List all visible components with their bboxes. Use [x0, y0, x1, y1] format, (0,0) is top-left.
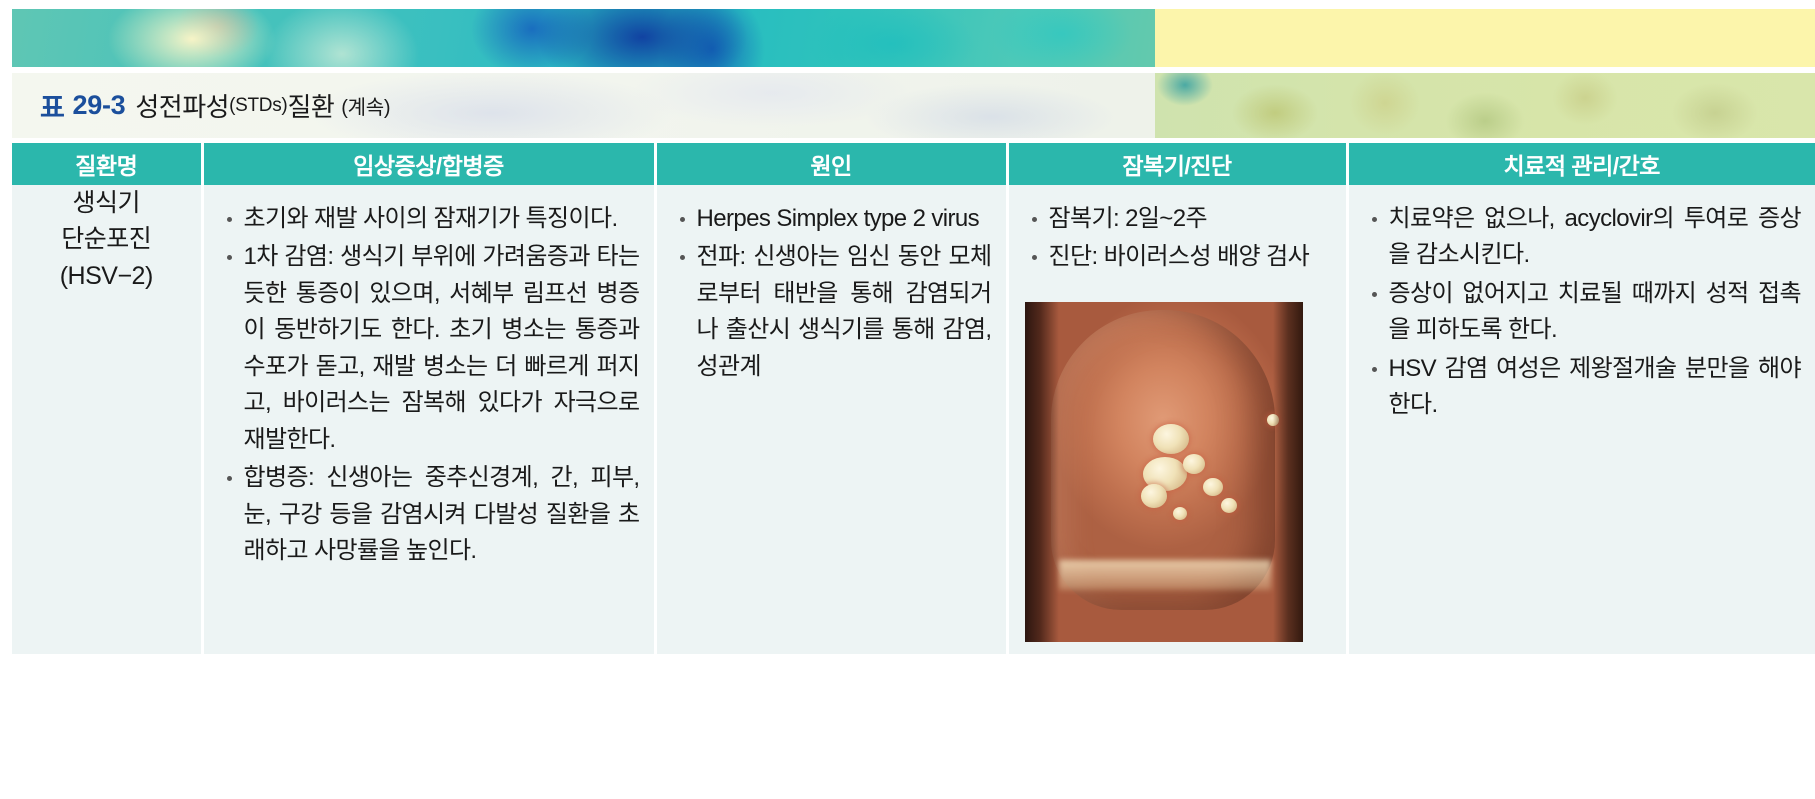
- decorative-top-band: [12, 9, 1815, 67]
- lesion-spot: [1141, 484, 1167, 508]
- list-item: Herpes Simplex type 2 virus: [673, 201, 992, 237]
- lesion-spot: [1221, 498, 1237, 513]
- table-title-main: 성전파성: [135, 87, 229, 124]
- cell-disease-name: 생식기 단순포진 (HSV−2): [12, 185, 202, 654]
- table-title-continued: (계속): [341, 91, 390, 120]
- photo-right-shadow: [1273, 302, 1303, 642]
- disease-name-line-1: 생식기: [12, 185, 201, 221]
- list-item: 증상이 없어지고 치료될 때까지 성적 접촉을 피하도록 한다.: [1365, 276, 1802, 349]
- genital-herpes-lesion-photo: [1025, 302, 1303, 642]
- management-list: 치료약은 없으나, acyclovir의 투여로 증상을 감소시킨다. 증상이 …: [1349, 185, 1815, 436]
- page-title: 표 29-3 성전파성 (STDs) 질환 (계속): [40, 73, 390, 138]
- cell-incubation-diagnosis: 잠복기: 2일~2주 진단: 바이러스성 배양 검사: [1007, 185, 1347, 654]
- title-illustration-thumbnail: [1155, 73, 1815, 138]
- table-title-main2: 질환: [287, 87, 334, 124]
- table-header-row: 질환명 임상증상/합병증 원인 잠복기/진단 치료적 관리/간호: [12, 143, 1815, 185]
- photo-left-shadow: [1025, 302, 1059, 642]
- list-item: 진단: 바이러스성 배양 검사: [1025, 239, 1332, 275]
- column-header-incubation-diagnosis: 잠복기/진단: [1007, 143, 1347, 185]
- table-row: 생식기 단순포진 (HSV−2) 초기와 재발 사이의 잠재기가 특징이다. 1…: [12, 185, 1815, 654]
- table-number: 29-3: [73, 90, 126, 121]
- list-item: 초기와 재발 사이의 잠재기가 특징이다.: [220, 201, 640, 237]
- list-item: 합병증: 신생아는 중추신경계, 간, 피부, 눈, 구강 등을 감염시켜 다발…: [220, 460, 640, 569]
- list-item: 치료약은 없으나, acyclovir의 투여로 증상을 감소시킨다.: [1365, 201, 1802, 274]
- incubation-diagnosis-list: 잠복기: 2일~2주 진단: 바이러스성 배양 검사: [1009, 185, 1346, 288]
- watercolor-teal-swatch: [12, 9, 1155, 67]
- table-label: 표: [40, 86, 65, 125]
- photo-highlight-band: [1059, 560, 1271, 590]
- lesion-spot: [1203, 478, 1223, 496]
- column-header-cause: 원인: [655, 143, 1007, 185]
- cause-list: Herpes Simplex type 2 virus 전파: 신생아는 임신 …: [657, 185, 1006, 397]
- column-header-disease-name: 질환명: [12, 143, 202, 185]
- disease-name-line-2: 단순포진: [12, 221, 201, 257]
- yellow-accent-block: [1155, 9, 1815, 67]
- list-item: HSV 감염 여성은 제왕절개술 분만을 해야 한다.: [1365, 351, 1802, 424]
- table-title-abbrev: (STDs): [229, 95, 287, 117]
- cell-symptoms: 초기와 재발 사이의 잠재기가 특징이다. 1차 감염: 생식기 부위에 가려움…: [202, 185, 655, 654]
- column-header-management: 치료적 관리/간호: [1347, 143, 1815, 185]
- column-header-symptoms: 임상증상/합병증: [202, 143, 655, 185]
- lesion-spot: [1153, 424, 1189, 454]
- cell-management: 치료약은 없으나, acyclovir의 투여로 증상을 감소시킨다. 증상이 …: [1347, 185, 1815, 654]
- list-item: 1차 감염: 생식기 부위에 가려움증과 타는 듯한 통증이 있으며, 서혜부 …: [220, 239, 640, 458]
- lesion-spot: [1173, 507, 1187, 520]
- symptoms-list: 초기와 재발 사이의 잠재기가 특징이다. 1차 감염: 생식기 부위에 가려움…: [204, 185, 654, 582]
- std-diseases-table: 질환명 임상증상/합병증 원인 잠복기/진단 치료적 관리/간호 생식기 단순포…: [12, 143, 1815, 654]
- list-item: 잠복기: 2일~2주: [1025, 201, 1332, 237]
- lesion-spot: [1183, 454, 1205, 474]
- table-title-band: 표 29-3 성전파성 (STDs) 질환 (계속): [12, 73, 1815, 138]
- list-item: 전파: 신생아는 임신 동안 모체로부터 태반을 통해 감염되거나 출산시 생식…: [673, 239, 992, 385]
- std-table-container: 질환명 임상증상/합병증 원인 잠복기/진단 치료적 관리/간호 생식기 단순포…: [12, 143, 1815, 799]
- cell-cause: Herpes Simplex type 2 virus 전파: 신생아는 임신 …: [655, 185, 1007, 654]
- disease-name-line-3: (HSV−2): [12, 258, 201, 294]
